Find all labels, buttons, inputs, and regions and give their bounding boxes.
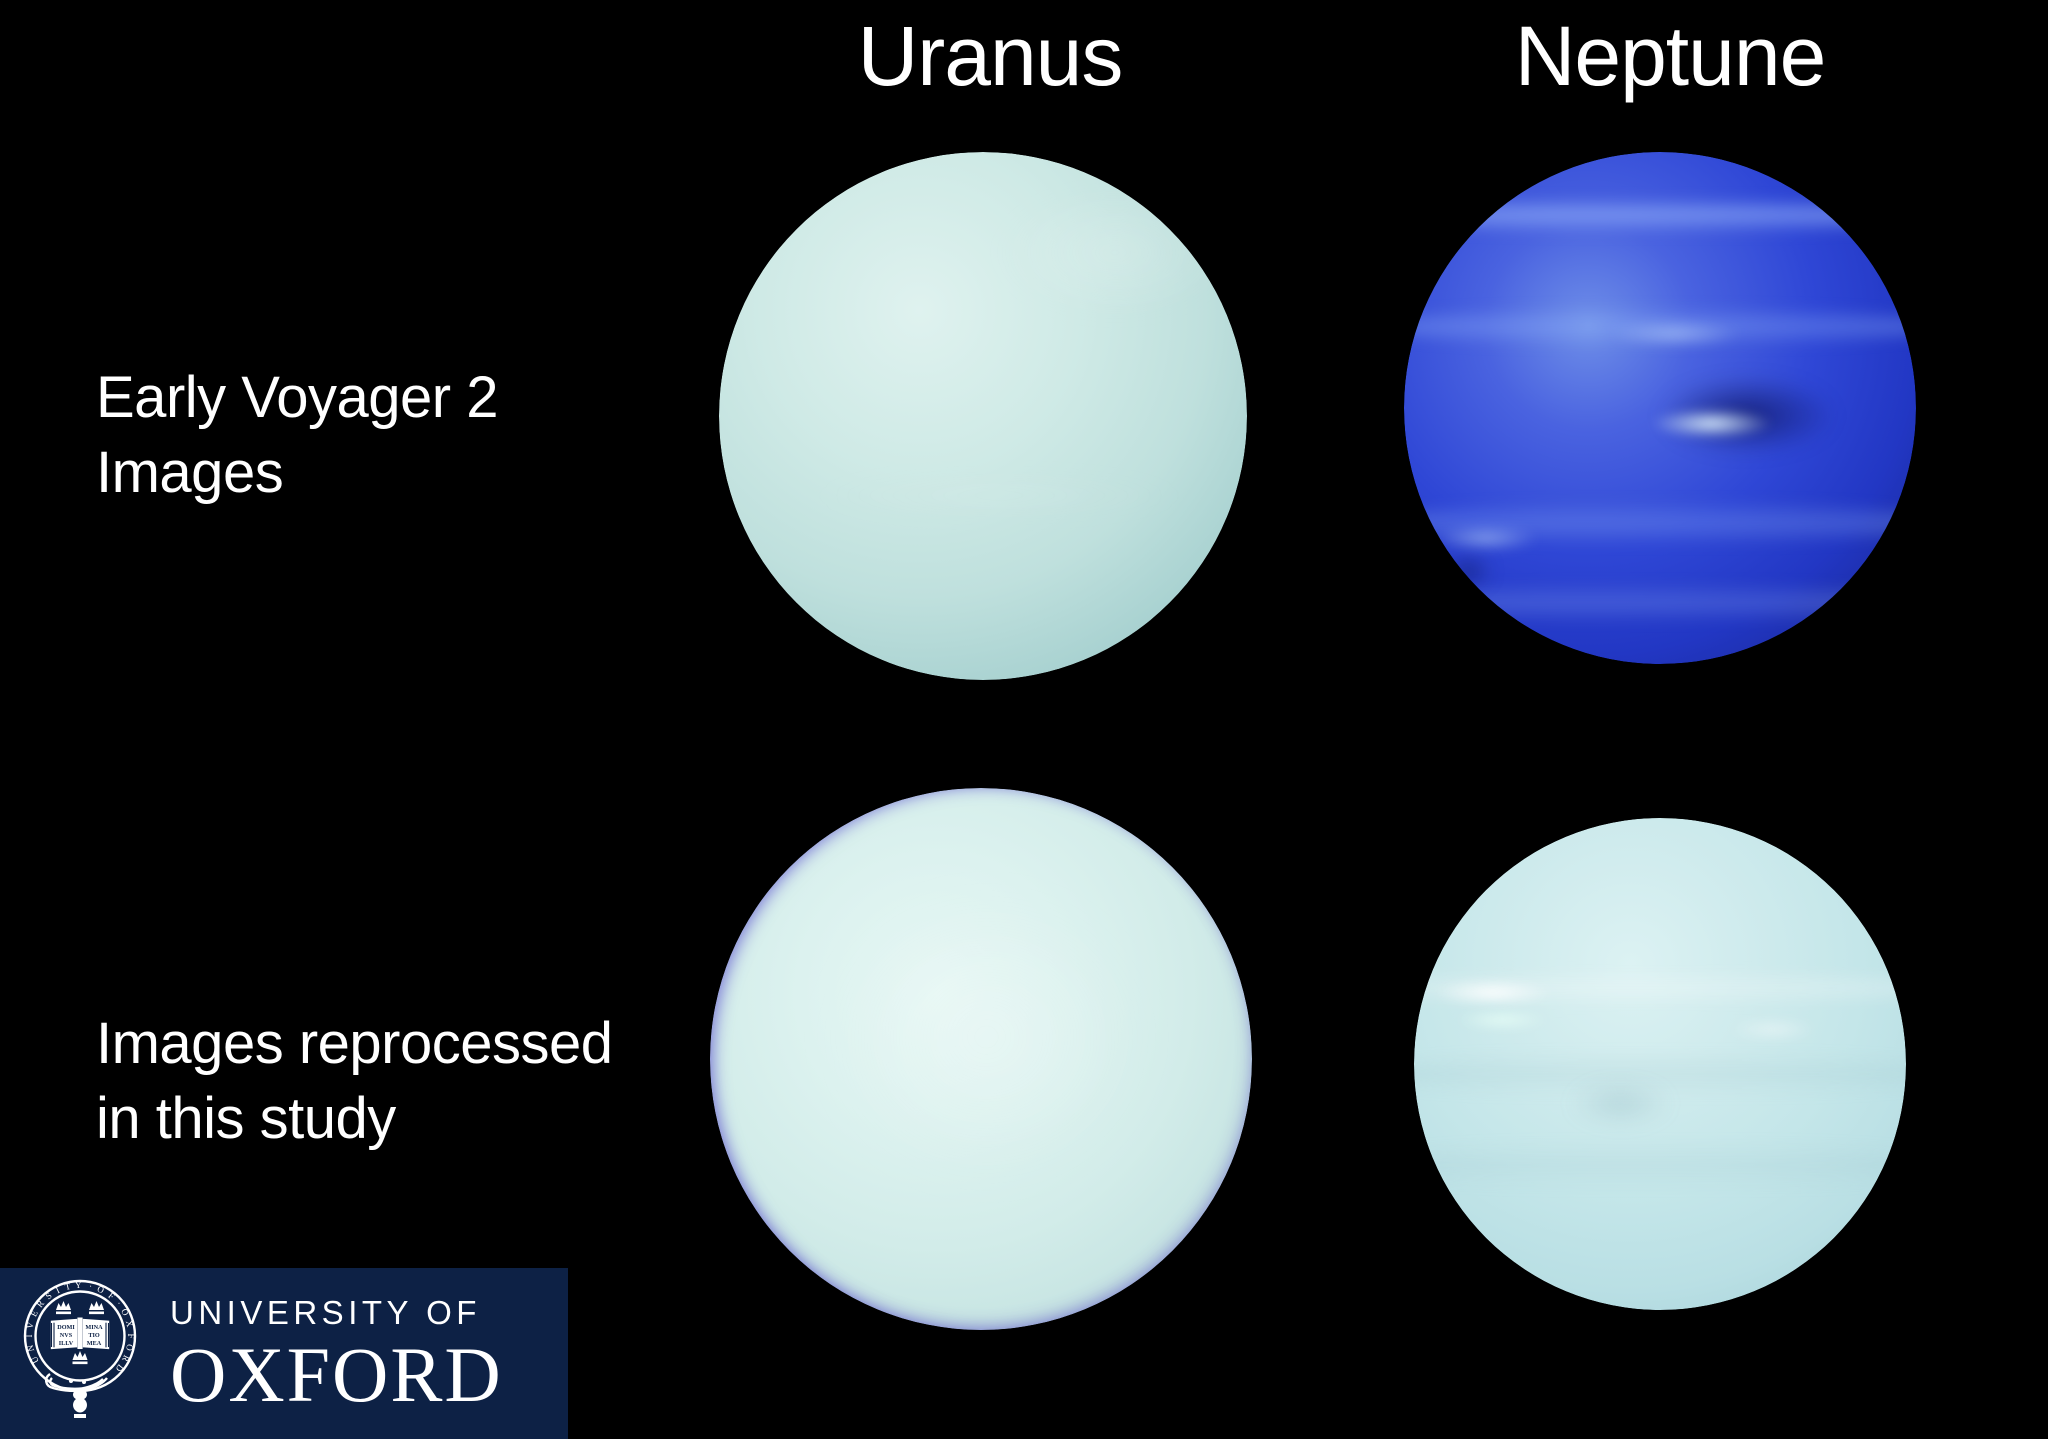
svg-text:·: · bbox=[114, 1298, 124, 1307]
column-header-uranus: Uranus bbox=[700, 14, 1280, 98]
planet-image-uranus-reprocessed bbox=[710, 788, 1252, 1330]
svg-text:F: F bbox=[106, 1290, 116, 1301]
uranus-early-faint-band bbox=[814, 469, 1184, 522]
neptune-early-bright-companion-cloud bbox=[1650, 408, 1773, 439]
svg-text:MEA: MEA bbox=[87, 1340, 102, 1347]
planet-image-uranus-early-voyager bbox=[719, 152, 1247, 680]
figure-canvas: Uranus Neptune Early Voyager 2 Images Im… bbox=[0, 0, 2048, 1439]
belt-pendant-shape bbox=[69, 1379, 87, 1418]
neptune-reprocessed-cloud-streak-left-lower bbox=[1458, 1010, 1547, 1030]
svg-text:O: O bbox=[124, 1343, 135, 1352]
neptune-early-cloud-streak-upper bbox=[1609, 321, 1742, 347]
svg-text:DOMI: DOMI bbox=[57, 1324, 75, 1331]
neptune-reprocessed-great-dark-spot bbox=[1571, 1084, 1669, 1123]
neptune-reprocessed-cloud-streak-left bbox=[1434, 980, 1552, 1005]
uranus-reprocessed-violet-limb bbox=[710, 788, 1252, 1330]
svg-text:E: E bbox=[28, 1308, 40, 1318]
svg-text:NVS: NVS bbox=[60, 1332, 73, 1339]
svg-text:O: O bbox=[96, 1283, 106, 1295]
row-label-reprocessed: Images reprocessed in this study bbox=[96, 1006, 716, 1157]
neptune-early-polar-band bbox=[1404, 582, 1916, 623]
oxford-wordmark-line-university: UNIVERSITY OF bbox=[170, 1296, 503, 1329]
planet-image-neptune-reprocessed bbox=[1414, 818, 1906, 1310]
university-of-oxford-logo: U N I V E R S I T Y · O F · O X F O R D bbox=[0, 1268, 568, 1439]
svg-text:ILLV: ILLV bbox=[59, 1340, 74, 1347]
neptune-early-dark-spot-two bbox=[1445, 556, 1491, 587]
oxford-wordmark: UNIVERSITY OF OXFORD bbox=[170, 1296, 503, 1411]
oxford-crest-icon: U N I V E R S I T Y · O F · O X F O R D bbox=[14, 1274, 146, 1434]
neptune-reprocessed-band-mid bbox=[1414, 1054, 1906, 1093]
planet-image-neptune-early-voyager bbox=[1404, 152, 1916, 664]
neptune-early-north-band bbox=[1404, 198, 1916, 234]
uranus-early-pole-haze bbox=[994, 184, 1237, 321]
oxford-wordmark-line-oxford: OXFORD bbox=[170, 1339, 503, 1411]
svg-text:S: S bbox=[44, 1290, 54, 1301]
neptune-reprocessed-band-lower bbox=[1414, 1143, 1906, 1187]
svg-text:·: · bbox=[88, 1280, 93, 1290]
svg-text:Y: Y bbox=[75, 1279, 82, 1289]
column-header-neptune: Neptune bbox=[1390, 14, 1950, 98]
svg-text:I: I bbox=[24, 1334, 34, 1337]
svg-text:V: V bbox=[25, 1320, 36, 1329]
svg-text:TIO: TIO bbox=[88, 1332, 100, 1339]
open-book-shape: DOMI NVS ILLV MINA TIO MEA bbox=[50, 1317, 110, 1350]
row-label-early-voyager: Early Voyager 2 Images bbox=[96, 360, 656, 511]
svg-text:MINA: MINA bbox=[85, 1324, 103, 1331]
svg-text:R: R bbox=[120, 1353, 132, 1363]
svg-text:F: F bbox=[126, 1333, 136, 1338]
